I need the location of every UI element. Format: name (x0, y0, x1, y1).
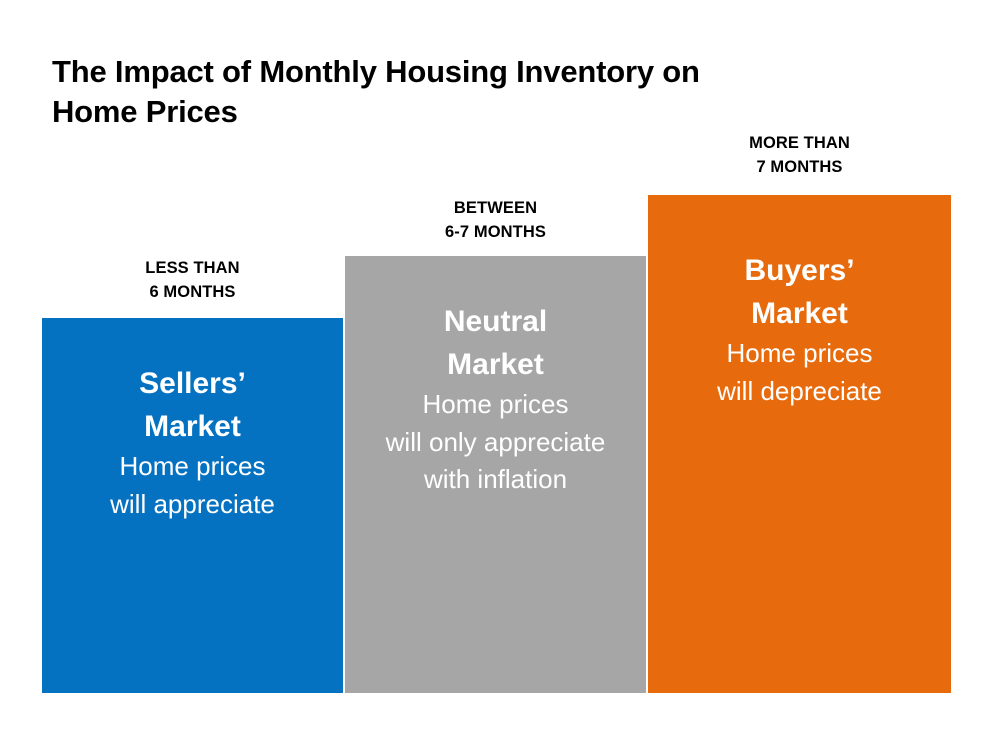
bar-sellers-description-line-1: Home prices (44, 448, 341, 485)
page-title-line-2: Home Prices (52, 92, 932, 132)
bar-sellers-heading-line-2: Market (44, 405, 341, 448)
bar-neutral-description: Home prices will only appreciate with in… (347, 386, 644, 498)
bar-buyers-description-line-1: Home prices (650, 335, 949, 372)
bar-sellers-heading-line-1: Sellers’ (44, 362, 341, 405)
bar-buyers-description: Home prices will depreciate (650, 335, 949, 410)
bar-sellers-text: Sellers’ Market Home prices will appreci… (42, 362, 343, 523)
bar-neutral-heading: Neutral Market (347, 300, 644, 386)
bar-buyers-text: Buyers’ Market Home prices will deprecia… (648, 249, 951, 410)
bar-neutral-description-line-3: with inflation (347, 461, 644, 498)
bar-neutral-description-line-1: Home prices (347, 386, 644, 423)
bar-sellers-heading: Sellers’ Market (44, 362, 341, 448)
page-title: The Impact of Monthly Housing Inventory … (52, 52, 932, 131)
bar-label-neutral-line-1: BETWEEN (345, 196, 646, 220)
bar-label-buyers-line-1: MORE THAN (648, 131, 951, 155)
bar-buyers-description-line-2: will depreciate (650, 373, 949, 410)
bar-buyers-heading-line-1: Buyers’ (650, 249, 949, 292)
bar-neutral-heading-line-1: Neutral (347, 300, 644, 343)
bar-label-sellers-line-1: LESS THAN (42, 256, 343, 280)
infographic-canvas: The Impact of Monthly Housing Inventory … (0, 0, 1000, 750)
bar-label-sellers-line-2: 6 MONTHS (42, 280, 343, 304)
bar-label-neutral: BETWEEN 6-7 MONTHS (345, 196, 646, 245)
bar-neutral-description-line-2: will only appreciate (347, 424, 644, 461)
bar-neutral-text: Neutral Market Home prices will only app… (345, 300, 646, 499)
bar-sellers-market: Sellers’ Market Home prices will appreci… (42, 318, 343, 693)
bar-label-neutral-line-2: 6-7 MONTHS (345, 220, 646, 244)
bar-label-buyers: MORE THAN 7 MONTHS (648, 131, 951, 180)
page-title-line-1: The Impact of Monthly Housing Inventory … (52, 52, 932, 92)
bar-neutral-market: Neutral Market Home prices will only app… (345, 256, 646, 693)
bar-sellers-description-line-2: will appreciate (44, 486, 341, 523)
bar-buyers-market: Buyers’ Market Home prices will deprecia… (648, 195, 951, 693)
bar-buyers-heading-line-2: Market (650, 292, 949, 335)
bar-sellers-description: Home prices will appreciate (44, 448, 341, 523)
bar-label-sellers: LESS THAN 6 MONTHS (42, 256, 343, 305)
bar-label-buyers-line-2: 7 MONTHS (648, 155, 951, 179)
bar-neutral-heading-line-2: Market (347, 343, 644, 386)
bar-buyers-heading: Buyers’ Market (650, 249, 949, 335)
